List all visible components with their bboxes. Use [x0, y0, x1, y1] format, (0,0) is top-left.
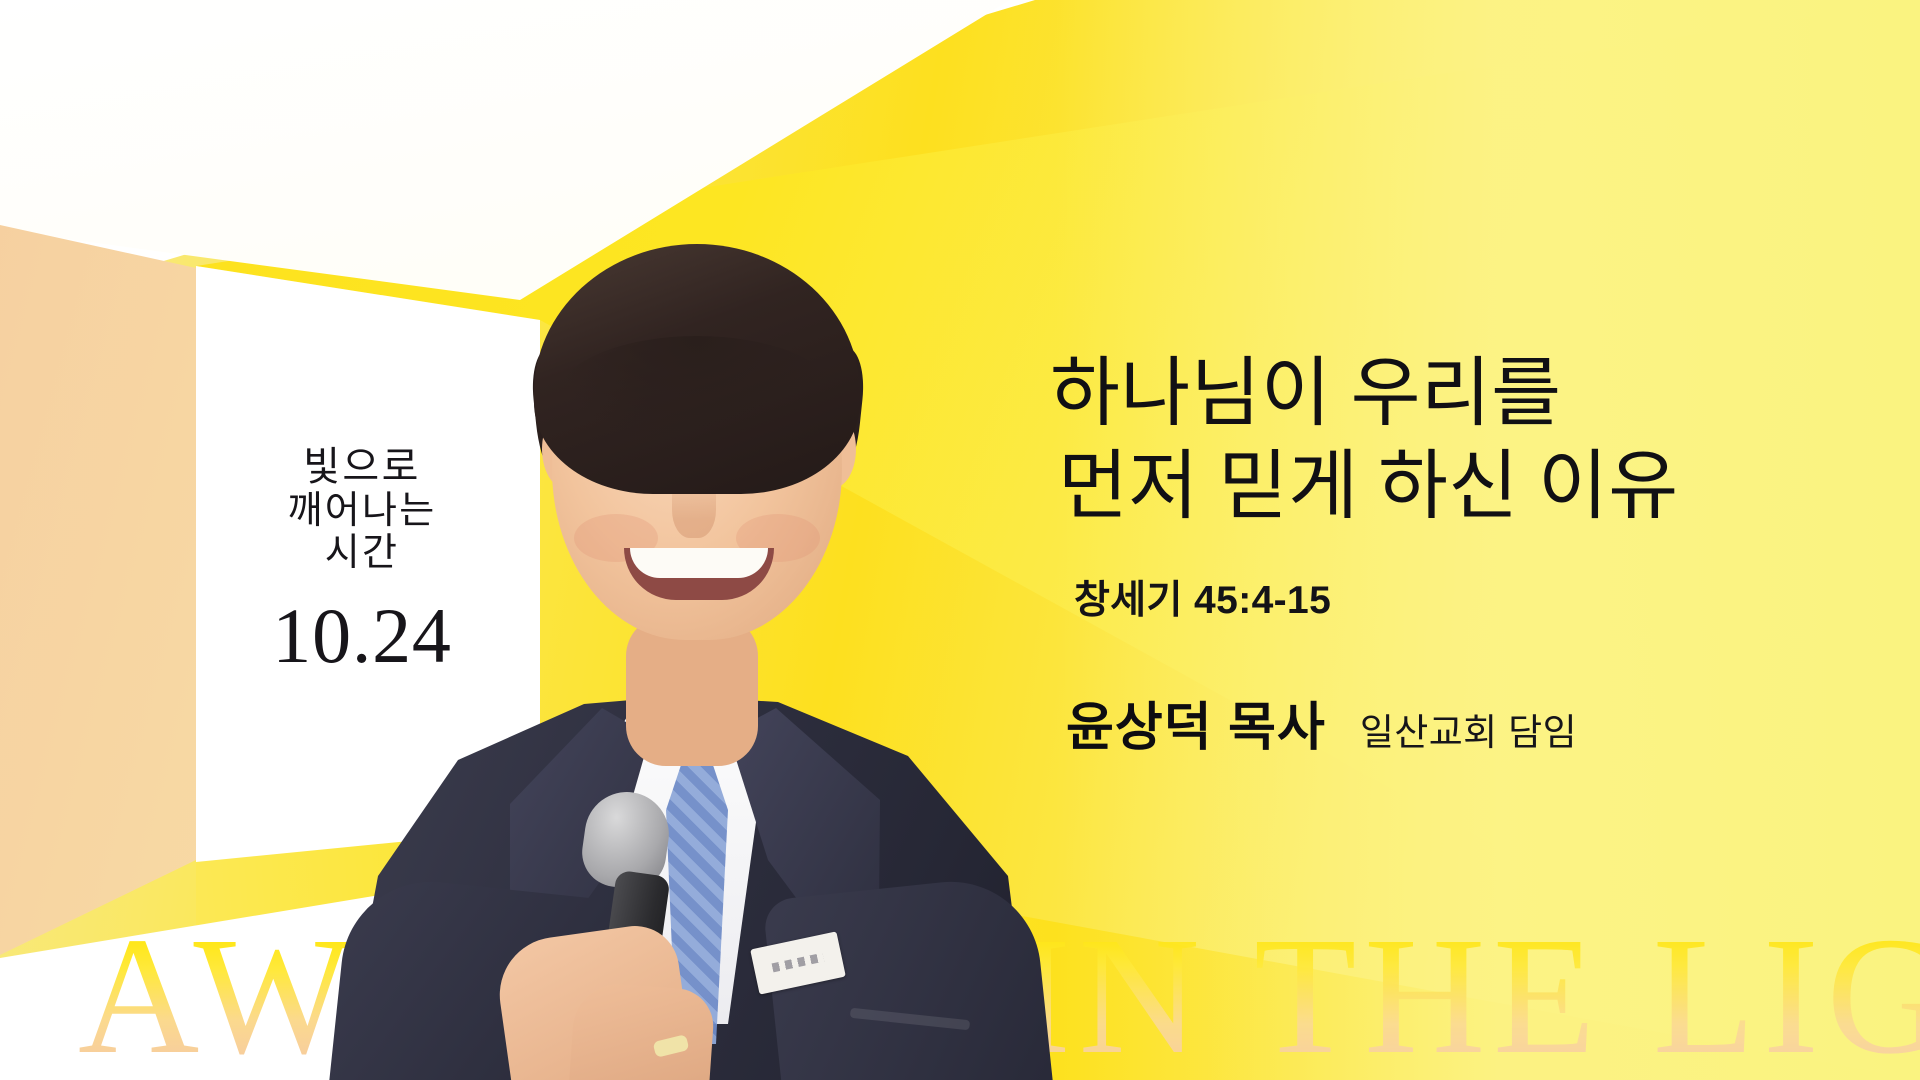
speaker-name: 윤상덕 목사	[1066, 685, 1326, 760]
sermon-title-line-1: 하나님이 우리를	[1050, 348, 1860, 441]
hair	[534, 244, 860, 494]
scripture-reference: 창세기 45:4-15	[1074, 569, 1860, 625]
sermon-title-card: AWA IN THE LIGHT 빛으로 깨어나는 시간 10.24	[0, 0, 1920, 1080]
teeth	[630, 548, 768, 578]
speaker-role: 일산교회 담임	[1360, 702, 1577, 756]
sermon-copy-block: 하나님이 우리를 먼저 믿게 하신 이유 창세기 45:4-15 윤상덕 목사 …	[1050, 348, 1860, 760]
hand-right	[564, 981, 716, 1080]
sermon-title: 하나님이 우리를 먼저 믿게 하신 이유	[1050, 348, 1860, 533]
speaker-line: 윤상덕 목사 일산교회 담임	[1066, 685, 1860, 760]
speaker-photo	[330, 196, 1050, 1080]
sermon-title-line-2: 먼저 믿게 하신 이유	[1058, 441, 1860, 534]
